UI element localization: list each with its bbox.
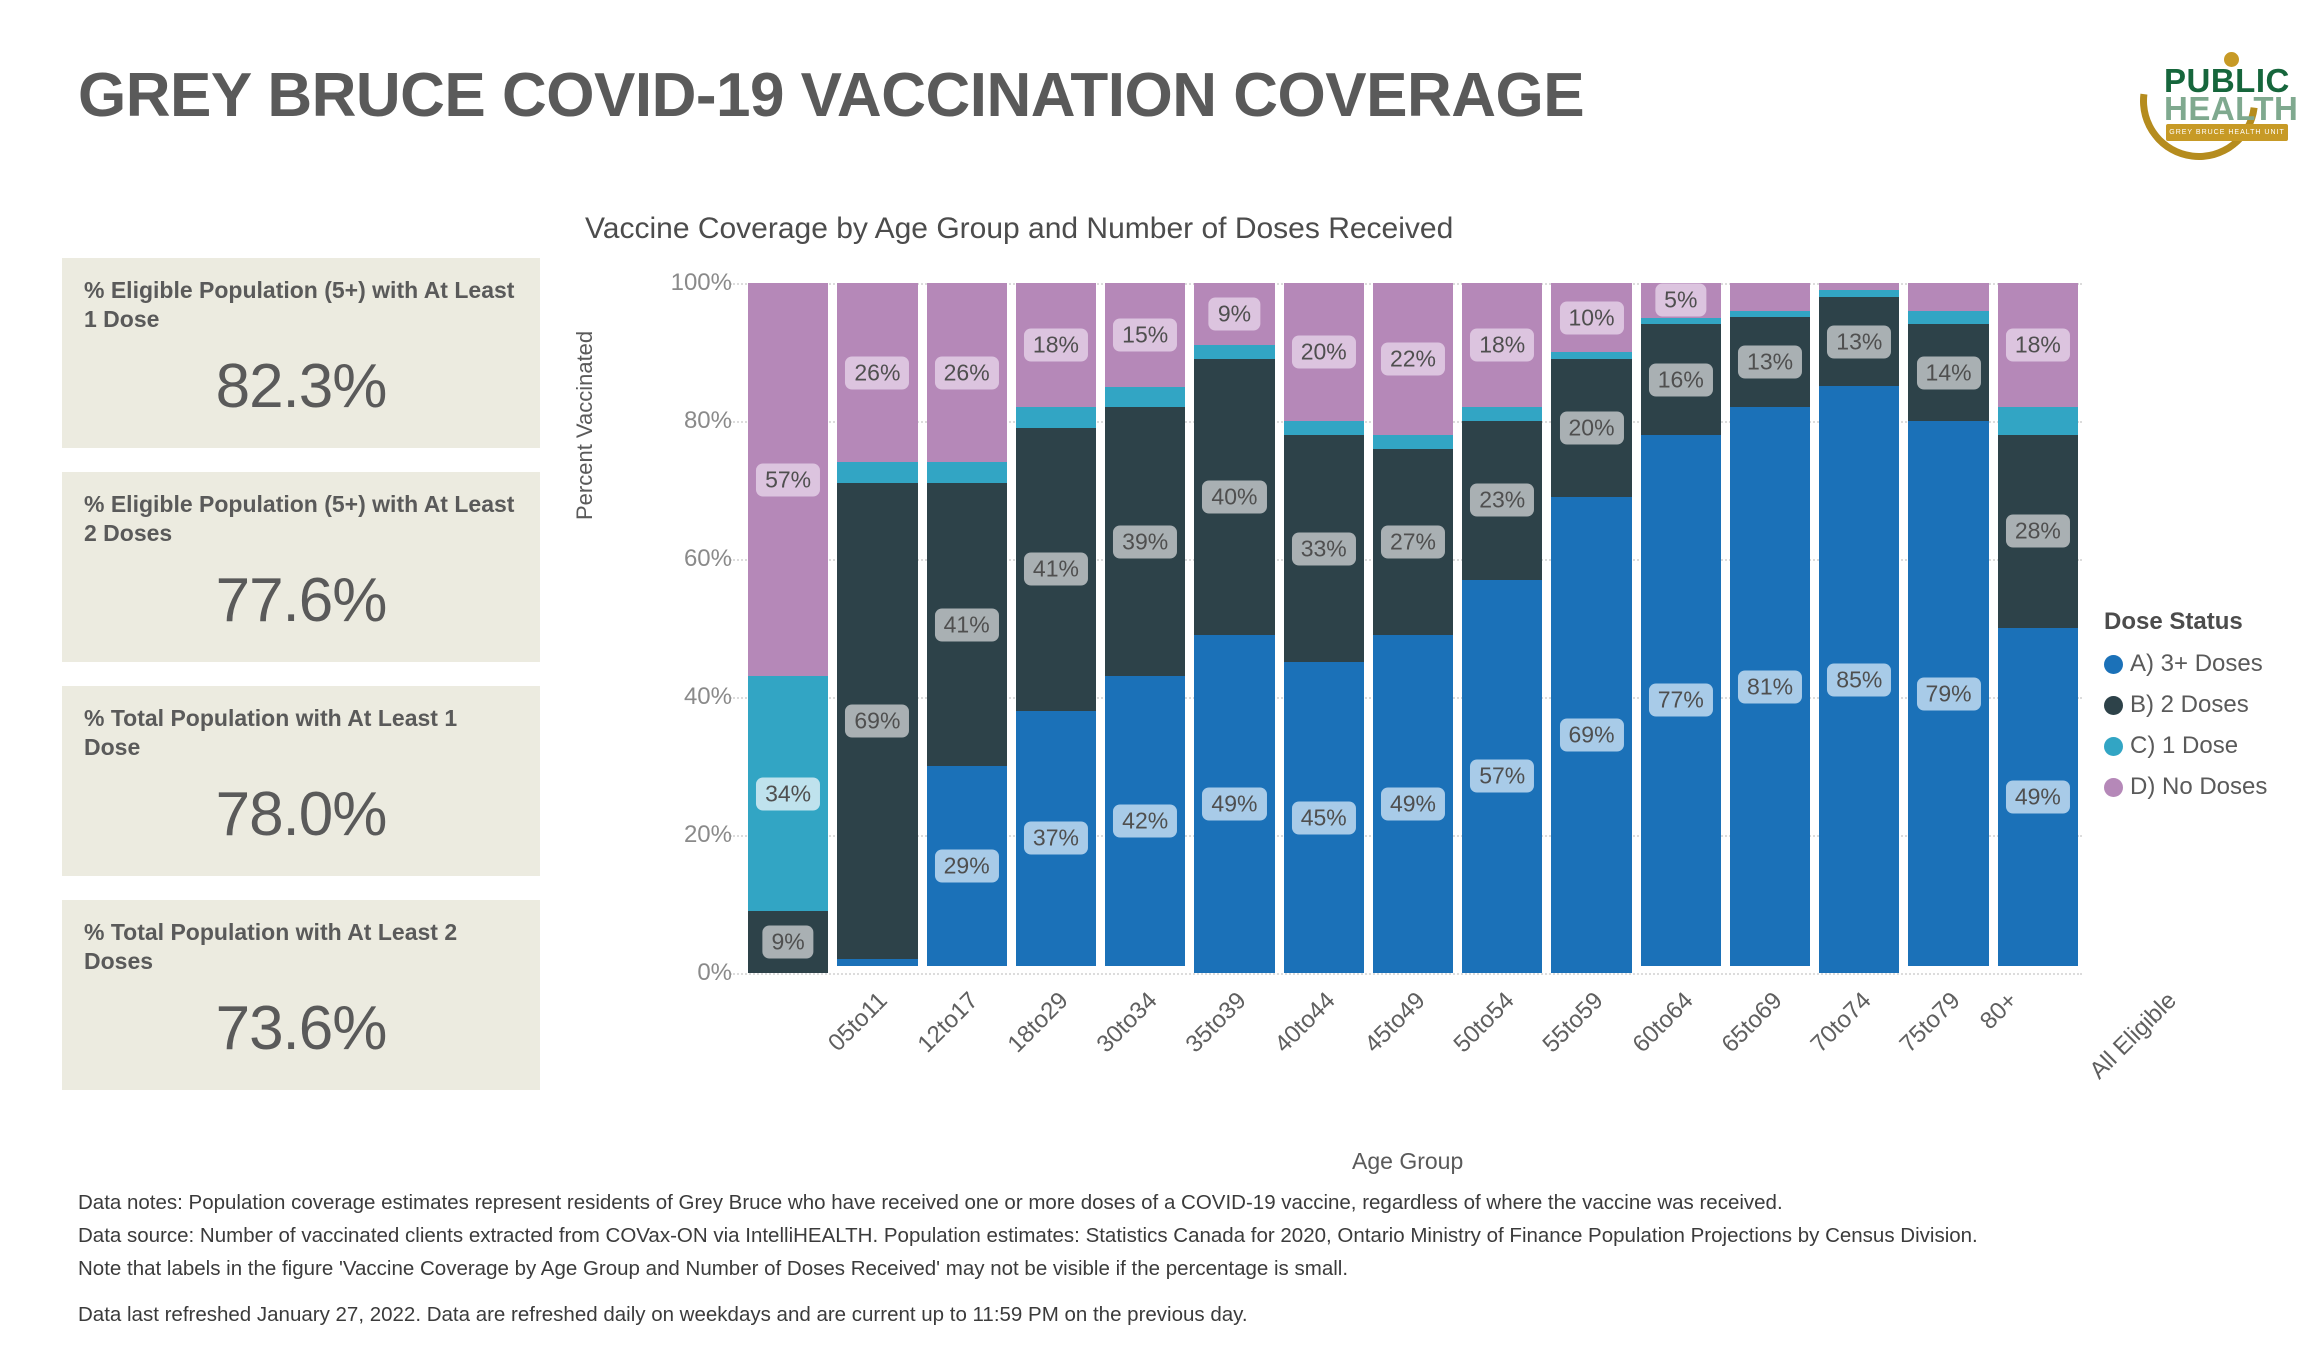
legend-item[interactable]: D) No Doses [2104, 773, 2267, 801]
bar-column[interactable]: 22%27%49% [1373, 283, 1453, 973]
bar-column[interactable]: 57%34%9% [748, 283, 828, 973]
bar-segment[interactable] [1373, 435, 1453, 449]
bar-column[interactable]: 26%41%29% [927, 283, 1007, 973]
bar-segment[interactable]: 77% [1641, 435, 1721, 966]
bar-segment[interactable] [1462, 407, 1542, 421]
legend-swatch-icon [2104, 655, 2123, 674]
legend-items: A) 3+ DosesB) 2 DosesC) 1 DoseD) No Dose… [2104, 650, 2267, 801]
bar-segment-label: 69% [845, 705, 909, 738]
x-axis-tick-label: 12to17 [913, 987, 985, 1059]
bar-segment[interactable]: 85% [1819, 386, 1899, 973]
legend-swatch-icon [2104, 778, 2123, 797]
bar-segment[interactable]: 13% [1730, 317, 1810, 407]
bar-segment[interactable]: 18% [1016, 283, 1096, 407]
bar-segment[interactable]: 57% [1462, 580, 1542, 973]
bar-segment-label: 16% [1649, 363, 1713, 396]
bar-segment[interactable]: 29% [927, 766, 1007, 966]
bar-segment[interactable]: 13% [1819, 297, 1899, 387]
legend-item-label: C) 1 Dose [2130, 732, 2238, 760]
bar-segment[interactable]: 49% [1373, 635, 1453, 973]
bar-segment-label: 13% [1738, 346, 1802, 379]
bar-segment-label: 14% [1917, 356, 1981, 389]
bar-segment[interactable] [1908, 311, 1988, 325]
x-axis-tick-label: 50to54 [1448, 987, 1520, 1059]
bar-segment[interactable] [1641, 318, 1721, 325]
bar-segment-label: 39% [1113, 525, 1177, 558]
page-title: GREY BRUCE COVID-19 VACCINATION COVERAGE [78, 60, 1584, 131]
stacked-bar-series: 57%34%9%26%69%26%41%29%18%41%37%15%39%42… [748, 283, 2078, 973]
stat-card-label: % Total Population with At Least 1 Dose [84, 704, 518, 763]
bar-column[interactable]: 18%41%37% [1016, 283, 1096, 973]
x-axis-tick-label: 65to69 [1716, 987, 1788, 1059]
bar-segment[interactable]: 79% [1908, 421, 1988, 966]
bar-column[interactable]: 20%33%45% [1284, 283, 1364, 973]
bar-segment[interactable]: 34% [748, 676, 828, 911]
bar-segment[interactable]: 9% [1194, 283, 1274, 345]
bar-column[interactable]: 18%28%49% [1998, 283, 2078, 973]
bar-segment-label: 57% [1470, 760, 1534, 793]
bar-segment-label: 79% [1917, 677, 1981, 710]
bar-segment[interactable]: 9% [748, 911, 828, 973]
bar-segment-label: 18% [1024, 329, 1088, 362]
bar-segment-label: 20% [1292, 336, 1356, 369]
bar-segment[interactable]: 40% [1194, 359, 1274, 635]
x-axis-tick-label: 60to64 [1627, 987, 1699, 1059]
bar-segment-label: 10% [1559, 301, 1623, 334]
bar-column[interactable]: 13%81% [1730, 283, 1810, 973]
bar-segment-label: 77% [1649, 684, 1713, 717]
legend-swatch-icon [2104, 696, 2123, 715]
bar-column[interactable]: 13%85% [1819, 283, 1899, 973]
stat-card: % Total Population with At Least 2 Doses… [62, 900, 540, 1090]
bar-segment-label: 49% [1381, 787, 1445, 820]
y-axis-title: Percent Vaccinated [572, 331, 598, 520]
bar-segment[interactable]: 81% [1730, 407, 1810, 966]
bar-segment-label: 20% [1559, 411, 1623, 444]
gridline [730, 973, 2082, 975]
x-axis-title: Age Group [1352, 1148, 1463, 1175]
footnote-line: Data source: Number of vaccinated client… [78, 1219, 2228, 1252]
stat-card-label: % Eligible Population (5+) with At Least… [84, 276, 518, 335]
x-axis-tick-label: 55to59 [1538, 987, 1610, 1059]
bar-column[interactable]: 18%23%57% [1462, 283, 1542, 973]
bar-segment-label: 9% [1209, 298, 1260, 331]
bar-segment[interactable]: 5% [1641, 283, 1721, 318]
bar-segment-label: 18% [1470, 329, 1534, 362]
bar-segment-label: 85% [1827, 663, 1891, 696]
bar-column[interactable]: 10%20%69% [1551, 283, 1631, 973]
bar-segment[interactable]: 28% [1998, 435, 2078, 628]
stat-card-value: 77.6% [84, 565, 518, 636]
bar-segment[interactable]: 45% [1284, 662, 1364, 973]
bar-segment[interactable]: 57% [748, 283, 828, 676]
bar-segment-label: 26% [935, 356, 999, 389]
bar-segment-label: 13% [1827, 325, 1891, 358]
y-axis-tick-label: 100% [671, 269, 732, 297]
bar-segment-label: 42% [1113, 805, 1177, 838]
chart-legend: Dose Status A) 3+ DosesB) 2 DosesC) 1 Do… [2104, 608, 2267, 814]
x-axis-tick-label: 05to11 [823, 987, 893, 1057]
bar-segment[interactable]: 22% [1373, 283, 1453, 435]
bar-segment-label: 5% [1655, 284, 1706, 317]
y-axis-tick-label: 40% [684, 683, 732, 711]
bar-segment[interactable] [837, 462, 917, 483]
bar-segment-label: 29% [935, 850, 999, 883]
footnote-line: Data last refreshed January 27, 2022. Da… [78, 1298, 2228, 1331]
page-header: GREY BRUCE COVID-19 VACCINATION COVERAGE… [0, 0, 2314, 180]
public-health-logo: PUBLIC HEALTH GREY BRUCE HEALTH UNIT [2140, 38, 2300, 150]
stat-card-value: 82.3% [84, 351, 518, 422]
chart-title: Vaccine Coverage by Age Group and Number… [585, 212, 1453, 246]
bar-segment[interactable] [1194, 345, 1274, 359]
bar-segment[interactable]: 26% [927, 283, 1007, 462]
bar-segment[interactable] [1105, 387, 1185, 408]
summary-stat-cards: % Eligible Population (5+) with At Least… [62, 258, 540, 1114]
x-axis-tick-label: 40to44 [1270, 987, 1342, 1059]
bar-segment[interactable]: 27% [1373, 449, 1453, 635]
bar-column[interactable]: 14%79% [1908, 283, 1988, 973]
bar-segment[interactable]: 42% [1105, 676, 1185, 966]
legend-item[interactable]: B) 2 Doses [2104, 691, 2267, 719]
bar-column[interactable]: 5%16%77% [1641, 283, 1721, 973]
y-axis-tick-label: 60% [684, 545, 732, 573]
footnote-line: Note that labels in the figure 'Vaccine … [78, 1252, 2228, 1285]
bar-segment[interactable]: 33% [1284, 435, 1364, 663]
stat-card: % Total Population with At Least 1 Dose7… [62, 686, 540, 876]
bar-segment-label: 69% [1559, 718, 1623, 751]
y-axis-tick-label: 0% [697, 959, 732, 987]
bar-segment-label: 57% [756, 463, 820, 496]
legend-item-label: B) 2 Doses [2130, 691, 2249, 719]
bar-segment[interactable] [927, 462, 1007, 483]
bar-segment[interactable] [837, 959, 917, 966]
legend-item-label: A) 3+ Doses [2130, 650, 2263, 678]
x-axis-tick-label: 30to34 [1091, 987, 1163, 1059]
stat-card: % Eligible Population (5+) with At Least… [62, 258, 540, 448]
bar-segment-label: 49% [1202, 787, 1266, 820]
stat-card-label: % Total Population with At Least 2 Doses [84, 918, 518, 977]
y-axis-tick-label: 80% [684, 407, 732, 435]
bar-column[interactable]: 26%69% [837, 283, 917, 973]
bar-segment-label: 40% [1202, 480, 1266, 513]
bar-segment[interactable]: 37% [1016, 711, 1096, 966]
bar-segment[interactable]: 41% [927, 483, 1007, 766]
x-axis-tick-label: 18to29 [1002, 987, 1074, 1059]
bar-segment[interactable]: 14% [1908, 324, 1988, 421]
bar-segment[interactable]: 69% [1551, 497, 1631, 973]
legend-item[interactable]: A) 3+ Doses [2104, 650, 2267, 678]
legend-title: Dose Status [2104, 608, 2267, 636]
bar-segment[interactable]: 18% [1998, 283, 2078, 407]
stat-card-value: 78.0% [84, 779, 518, 850]
bar-segment-label: 49% [2006, 781, 2070, 814]
bar-segment-label: 37% [1024, 822, 1088, 855]
bar-segment[interactable] [1819, 290, 1899, 297]
footnotes: Data notes: Population coverage estimate… [78, 1186, 2228, 1331]
bar-segment-label: 28% [2006, 515, 2070, 548]
bar-segment[interactable]: 39% [1105, 407, 1185, 676]
bar-segment-label: 34% [756, 777, 820, 810]
bar-segment[interactable]: 18% [1462, 283, 1542, 407]
bar-segment-label: 26% [845, 356, 909, 389]
bar-segment-label: 27% [1381, 525, 1445, 558]
bar-segment[interactable]: 69% [837, 483, 917, 959]
bar-segment[interactable] [1551, 352, 1631, 359]
logo-health-text: HEALTH [2164, 90, 2298, 128]
stat-card: % Eligible Population (5+) with At Least… [62, 472, 540, 662]
legend-item[interactable]: C) 1 Dose [2104, 732, 2267, 760]
bar-segment-label: 33% [1292, 532, 1356, 565]
bar-segment-label: 23% [1470, 484, 1534, 517]
bar-segment-label: 18% [2006, 329, 2070, 362]
bar-segment[interactable]: 10% [1551, 283, 1631, 352]
bar-segment-label: 41% [1024, 553, 1088, 586]
bar-segment[interactable]: 15% [1105, 283, 1185, 387]
bar-segment-label: 81% [1738, 670, 1802, 703]
bar-column[interactable]: 15%39%42% [1105, 283, 1185, 973]
stat-card-label: % Eligible Population (5+) with At Least… [84, 490, 518, 549]
bar-segment[interactable] [1998, 407, 2078, 435]
bar-segment[interactable] [1908, 283, 1988, 311]
bar-segment[interactable] [1284, 421, 1364, 435]
stat-card-value: 73.6% [84, 993, 518, 1064]
bar-segment[interactable]: 20% [1551, 359, 1631, 497]
bar-segment-label: 15% [1113, 318, 1177, 351]
bar-segment[interactable]: 41% [1016, 428, 1096, 711]
legend-item-label: D) No Doses [2130, 773, 2267, 801]
x-axis-tick-label: 80+ [1975, 987, 2024, 1036]
bar-segment[interactable]: 20% [1284, 283, 1364, 421]
bar-segment-label: 45% [1292, 801, 1356, 834]
y-axis-tick-label: 20% [684, 821, 732, 849]
bar-segment[interactable]: 26% [837, 283, 917, 462]
bar-segment[interactable] [1819, 283, 1899, 290]
bar-segment-label: 22% [1381, 342, 1445, 375]
legend-swatch-icon [2104, 737, 2123, 756]
bar-segment[interactable]: 49% [1194, 635, 1274, 973]
bar-segment[interactable]: 23% [1462, 421, 1542, 580]
bar-segment[interactable]: 49% [1998, 628, 2078, 966]
footnote-line: Data notes: Population coverage estimate… [78, 1186, 2228, 1219]
bar-segment[interactable] [1730, 283, 1810, 311]
bar-segment[interactable] [1016, 407, 1096, 428]
chart-plot-area: 0%20%40%60%80%100% 57%34%9%26%69%26%41%2… [748, 283, 2078, 973]
bar-column[interactable]: 9%40%49% [1194, 283, 1274, 973]
x-axis-tick-label: All Eligible [2084, 987, 2182, 1085]
bar-segment-label: 41% [935, 608, 999, 641]
logo-tagline: GREY BRUCE HEALTH UNIT [2166, 124, 2288, 141]
bar-segment[interactable]: 16% [1641, 324, 1721, 434]
bar-segment[interactable] [1730, 311, 1810, 318]
bar-segment-label: 9% [763, 925, 814, 958]
x-axis-tick-label: 35to39 [1181, 987, 1253, 1059]
x-axis-tick-label: 45to49 [1359, 987, 1431, 1059]
x-axis-tick-label: 70to74 [1806, 987, 1878, 1059]
x-axis-tick-label: 75to79 [1895, 987, 1967, 1059]
